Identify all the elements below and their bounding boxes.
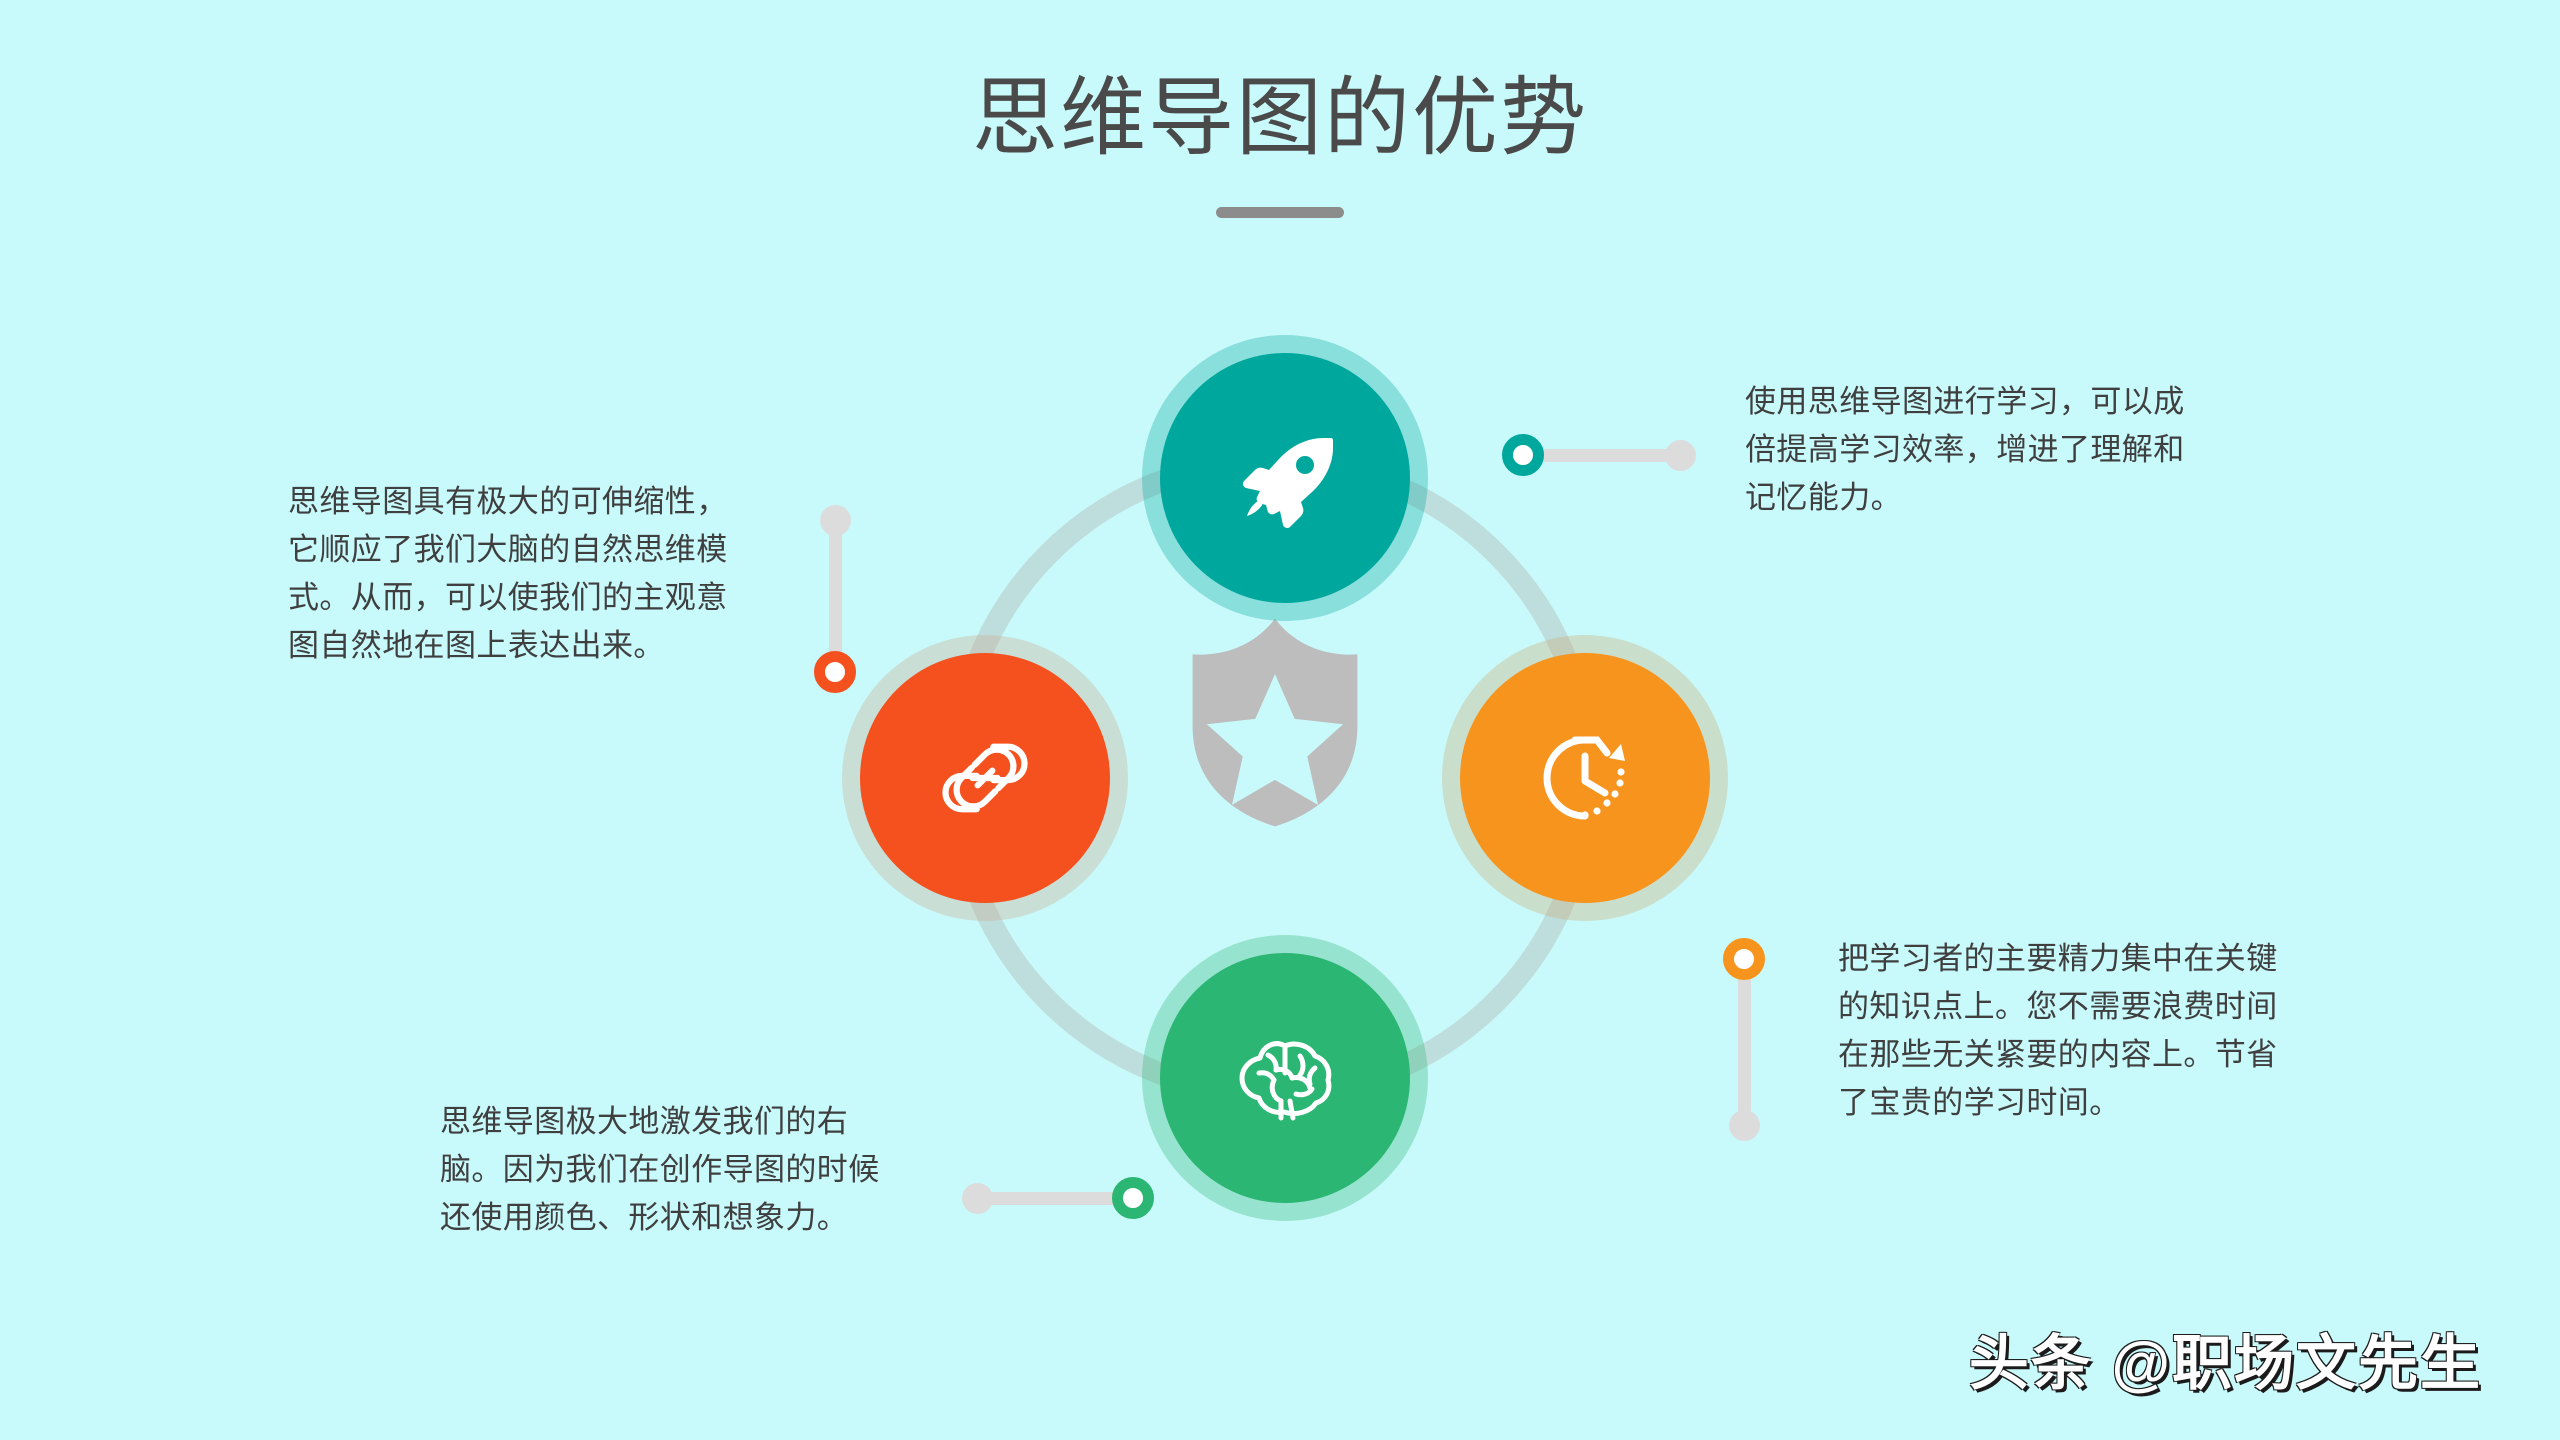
link-chain-icon [930,723,1040,833]
callout-text-top-left: 思维导图具有极大的可伸缩性，它顺应了我们大脑的自然思维模式。从而，可以使我们的主… [288,478,753,670]
connector-line-bottom-right [1738,965,1751,1125]
node-brain[interactable] [1160,953,1410,1203]
node-rocket[interactable] [1160,353,1410,603]
callout-text-top-right: 使用思维导图进行学习，可以成倍提高学习效率，增进了理解和记忆能力。 [1745,378,2215,522]
clock-history-icon [1530,723,1640,833]
connector-endpoint-bottom-right [1729,1110,1760,1141]
callout-text-bottom-left: 思维导图极大地激发我们的右脑。因为我们在创作导图的时候还使用颜色、形状和想象力。 [440,1098,905,1242]
slide-canvas: 思维导图的优势 使用思维导图进行学习，可以成倍提高学习效率，增进了理解和记忆能力… [0,0,2560,1440]
title-block: 思维导图的优势 [0,72,2560,218]
shield-star-icon [1185,615,1365,830]
circular-diagram [845,335,1725,1235]
brain-icon [1230,1023,1340,1133]
title-underline-rule [1216,207,1344,218]
rocket-icon [1230,423,1340,533]
node-clock[interactable] [1460,653,1710,903]
connector-marker-bottom-right[interactable] [1723,938,1765,980]
watermark: 头条 @职场文先生 [1969,1315,2482,1402]
callout-text-bottom-right: 把学习者的主要精力集中在关键的知识点上。您不需要浪费时间在那些无关紧要的内容上。… [1838,935,2308,1127]
page-title: 思维导图的优势 [0,72,2560,165]
node-link[interactable] [860,653,1110,903]
